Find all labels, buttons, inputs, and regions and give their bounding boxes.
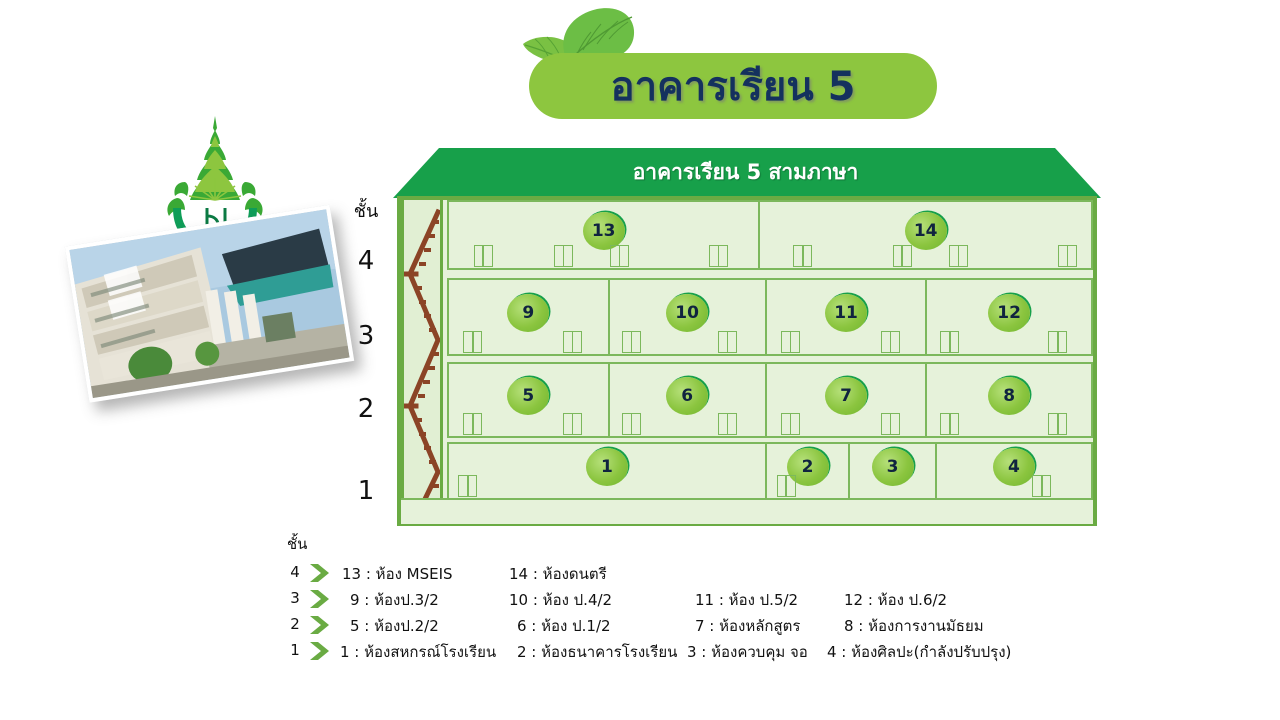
floor-axis-number-2: 2 — [340, 394, 392, 424]
room-9[interactable]: 9 — [449, 280, 610, 354]
legend-entry: 5 : ห้องป.2/2 — [350, 614, 439, 638]
legend-entry: 8 : ห้องการงานมัธยม — [844, 614, 984, 638]
room-number-badge: 12 — [988, 294, 1030, 332]
legend-entry: 7 : ห้องหลักสูตร — [695, 614, 800, 638]
legend-entry: 9 : ห้องป.3/2 — [350, 588, 439, 612]
legend-entry: 4 : ห้องศิลปะ(กำลังปรับปรุง) — [827, 640, 1011, 664]
chevron-right-icon — [309, 589, 331, 609]
door-icon — [1032, 475, 1051, 497]
door-icon — [463, 331, 482, 353]
room-12[interactable]: 12 — [927, 280, 1091, 354]
room-5[interactable]: 5 — [449, 364, 610, 436]
legend-floor-number: 3 — [287, 589, 303, 607]
room-3[interactable]: 3 — [850, 444, 937, 498]
door-icon — [622, 413, 641, 435]
room-14[interactable]: 14 — [760, 202, 1091, 268]
chevron-right-icon — [309, 641, 331, 661]
door-icon — [777, 475, 796, 497]
legend-entry: 10 : ห้อง ป.4/2 — [509, 588, 612, 612]
room-number-badge: 1 — [586, 448, 628, 486]
building-photo — [65, 205, 354, 403]
floor-axis: ชั้น 4 3 2 1 — [340, 196, 392, 516]
door-icon — [622, 331, 641, 353]
room-8[interactable]: 8 — [927, 364, 1091, 436]
legend-entry: 12 : ห้อง ป.6/2 — [844, 588, 947, 612]
room-13[interactable]: 13 — [449, 202, 760, 268]
building-plinth — [401, 498, 1093, 524]
legend-row: 413 : ห้อง MSEIS14 : ห้องดนตรี — [287, 560, 1247, 586]
door-icon — [709, 245, 728, 267]
room-6[interactable]: 6 — [610, 364, 767, 436]
room-number-badge: 4 — [993, 448, 1035, 486]
legend: ชั้น 413 : ห้อง MSEIS14 : ห้องดนตรี39 : … — [287, 532, 1247, 662]
room-number-badge: 10 — [666, 294, 708, 332]
legend-entry: 3 : ห้องควบคุม จอ — [687, 640, 808, 664]
door-icon — [474, 245, 493, 267]
building-diagram: อาคารเรียน 5 สามภาษา — [393, 148, 1105, 530]
floor-2: 5678 — [447, 362, 1093, 438]
door-icon — [563, 413, 582, 435]
room-number-badge: 3 — [872, 448, 914, 486]
door-icon — [793, 245, 812, 267]
floor-axis-number-3: 3 — [340, 321, 392, 351]
door-icon — [781, 413, 800, 435]
roof-label: อาคารเรียน 5 สามภาษา — [393, 152, 1098, 192]
room-number-badge: 7 — [825, 377, 867, 415]
room-2[interactable]: 2 — [767, 444, 850, 498]
legend-entry: 6 : ห้อง ป.1/2 — [517, 614, 611, 638]
door-icon — [940, 331, 959, 353]
legend-row: 39 : ห้องป.3/210 : ห้อง ป.4/211 : ห้อง ป… — [287, 586, 1247, 612]
room-number-badge: 5 — [507, 377, 549, 415]
door-icon — [458, 475, 477, 497]
door-icon — [718, 413, 737, 435]
room-10[interactable]: 10 — [610, 280, 767, 354]
door-icon — [881, 413, 900, 435]
door-icon — [1048, 331, 1067, 353]
legend-floor-number: 4 — [287, 563, 303, 581]
door-icon — [1058, 245, 1077, 267]
door-icon — [563, 331, 582, 353]
door-icon — [554, 245, 573, 267]
room-number-badge: 9 — [507, 294, 549, 332]
legend-entry: 11 : ห้อง ป.5/2 — [695, 588, 798, 612]
room-number-badge: 6 — [666, 377, 708, 415]
legend-floor-number: 1 — [287, 641, 303, 659]
room-4[interactable]: 4 — [937, 444, 1091, 498]
chevron-right-icon — [309, 563, 331, 583]
door-icon — [893, 245, 912, 267]
door-icon — [881, 331, 900, 353]
floor-axis-number-4: 4 — [340, 246, 392, 276]
page-title: อาคารเรียน 5 — [529, 58, 937, 116]
door-icon — [463, 413, 482, 435]
chevron-right-icon — [309, 615, 331, 635]
door-icon — [781, 331, 800, 353]
building-photo-wrapper — [65, 206, 355, 459]
floor-4: 1314 — [447, 200, 1093, 270]
door-icon — [940, 413, 959, 435]
poster-canvas: อาคารเรียน 5 — [0, 0, 1280, 720]
legend-title: ชั้น — [287, 532, 307, 556]
staircase-shaft — [401, 200, 443, 522]
legend-entry: 14 : ห้องดนตรี — [509, 562, 607, 586]
floor-1: 1234 — [447, 442, 1093, 500]
legend-row: 25 : ห้องป.2/26 : ห้อง ป.1/27 : ห้องหลัก… — [287, 612, 1247, 638]
room-number-badge: 8 — [988, 377, 1030, 415]
legend-row: 11 : ห้องสหกรณ์โรงเรียน2 : ห้องธนาคารโรง… — [287, 638, 1247, 664]
room-7[interactable]: 7 — [767, 364, 928, 436]
legend-entry: 2 : ห้องธนาคารโรงเรียน — [517, 640, 677, 664]
room-11[interactable]: 11 — [767, 280, 928, 354]
floor-axis-number-1: 1 — [340, 476, 392, 506]
room-number-badge: 11 — [825, 294, 867, 332]
floor-axis-title: ชั้น — [340, 196, 392, 225]
door-icon — [718, 331, 737, 353]
door-icon — [949, 245, 968, 267]
door-icon — [610, 245, 629, 267]
floor-3: 9101112 — [447, 278, 1093, 356]
legend-floor-number: 2 — [287, 615, 303, 633]
legend-entry: 13 : ห้อง MSEIS — [342, 562, 453, 586]
room-1[interactable]: 1 — [449, 444, 767, 498]
legend-entry: 1 : ห้องสหกรณ์โรงเรียน — [340, 640, 496, 664]
door-icon — [1048, 413, 1067, 435]
